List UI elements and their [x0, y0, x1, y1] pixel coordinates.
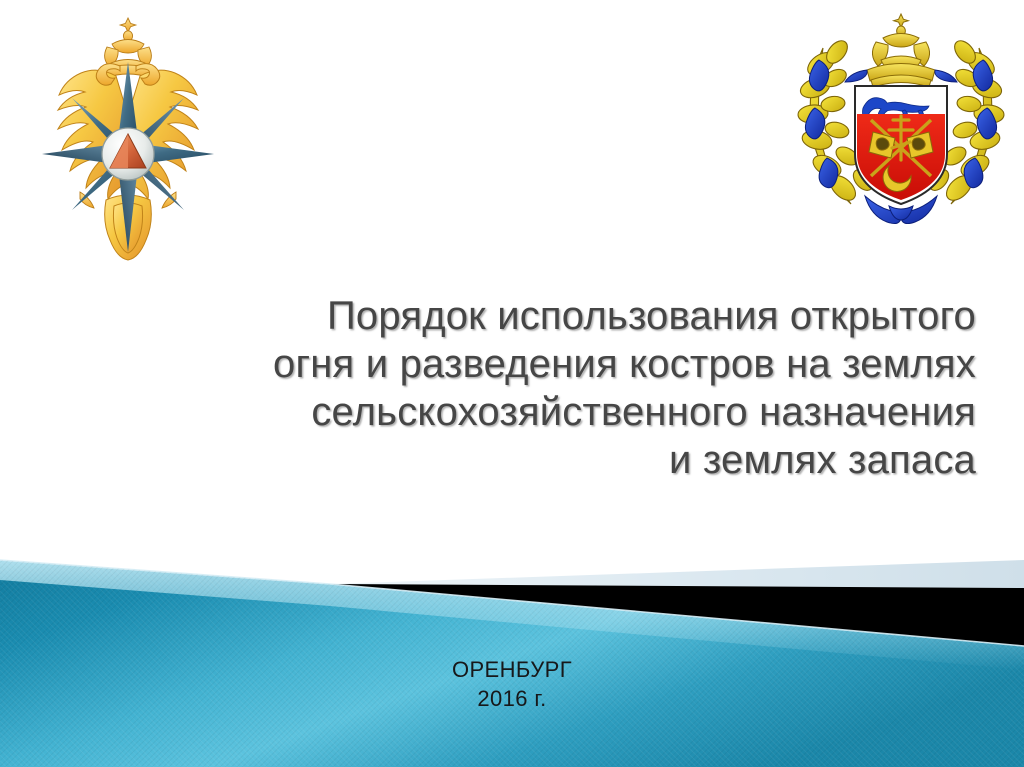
footer-year: 2016 г.	[0, 684, 1024, 713]
title-line-1: Порядок использования открытого	[110, 292, 976, 340]
title-line-3: сельскохозяйственного назначения	[110, 388, 976, 436]
title-line-2: огня и разведения костров на землях	[110, 340, 976, 388]
mchs-emblem-icon	[28, 14, 228, 262]
orenburg-coat-of-arms-icon	[793, 8, 1009, 236]
title-slide: Порядок использования открытого огня и р…	[0, 0, 1024, 767]
title-line-4: и землях запаса	[110, 436, 976, 484]
footer-city: ОРЕНБУРГ	[0, 655, 1024, 684]
slide-title: Порядок использования открытого огня и р…	[110, 292, 976, 484]
slide-footer: ОРЕНБУРГ 2016 г.	[0, 655, 1024, 713]
decorative-diagonal-bands	[0, 520, 1024, 767]
